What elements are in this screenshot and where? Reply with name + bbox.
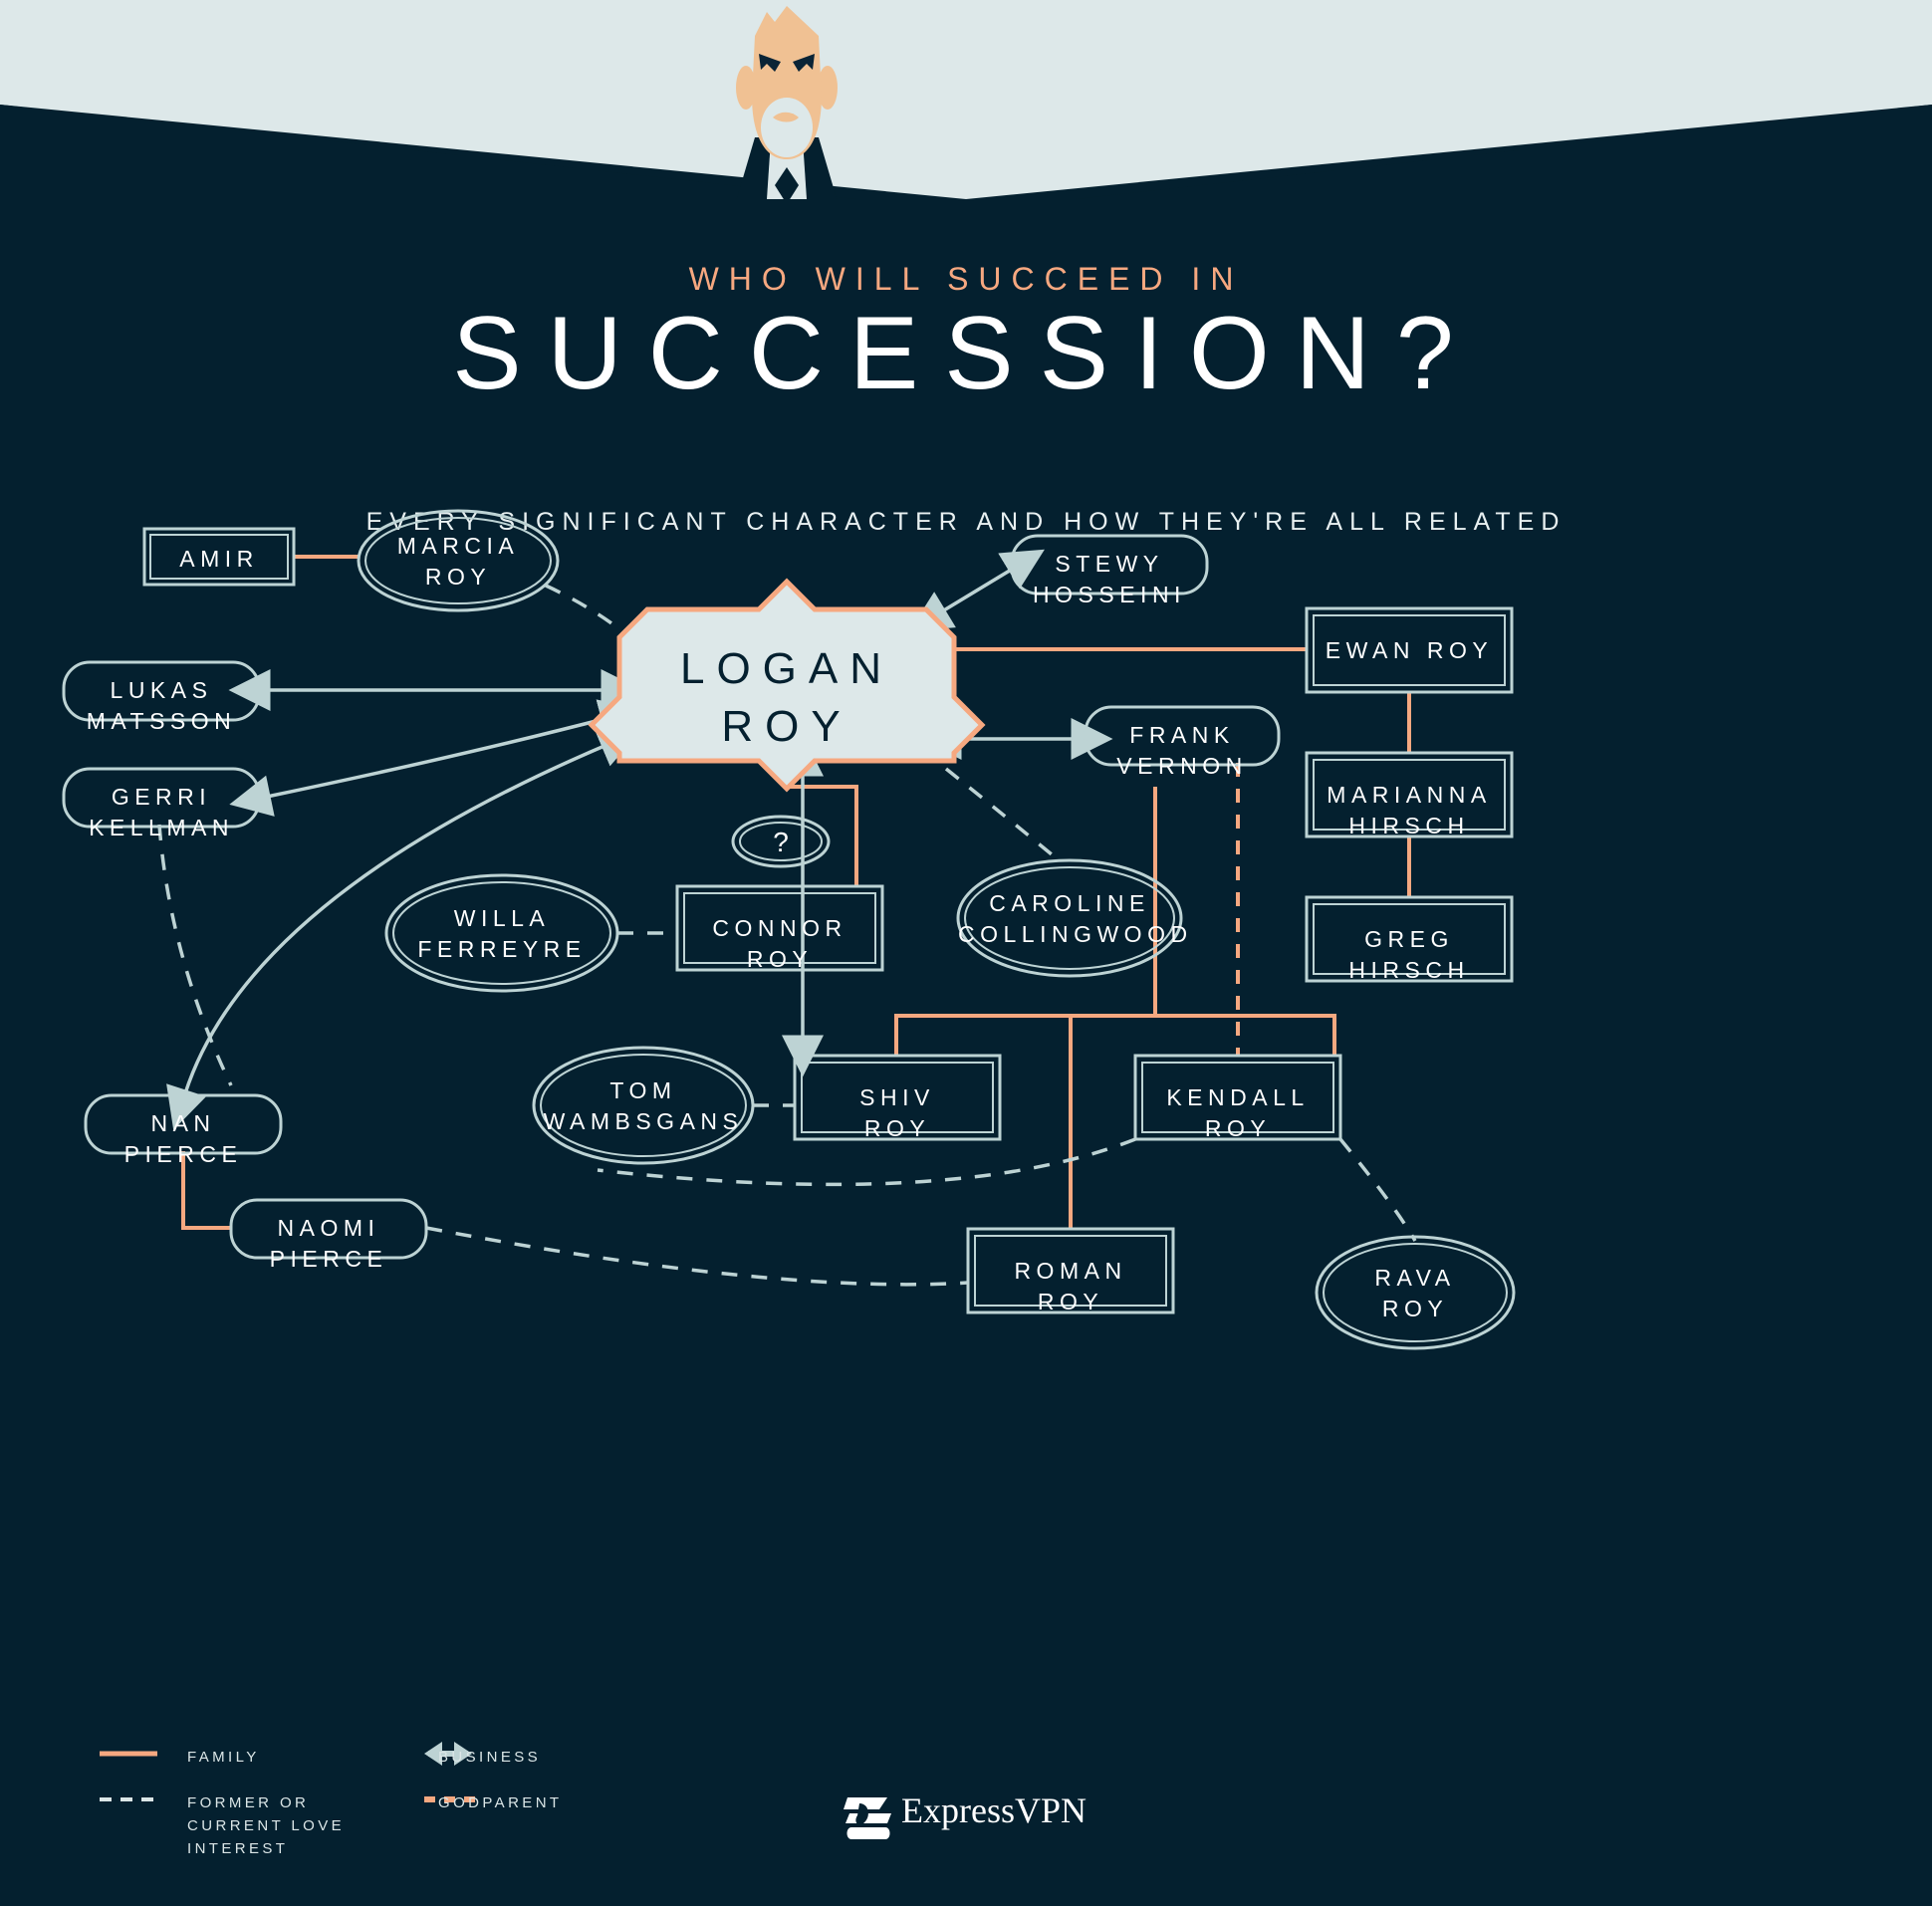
node-stewy-hosseini[interactable] [1012,536,1207,594]
node-logan-roy[interactable] [592,582,982,789]
node-greg-hirsch[interactable] [1307,897,1512,981]
node-amir[interactable] [144,529,294,585]
node-roman-roy[interactable] [968,1229,1173,1312]
node-lukas-matsson[interactable] [64,662,259,720]
legend: FAMILY BUSINESS FORMER OR CURRENT LOVE I… [100,1738,717,1887]
legend-label-family: FAMILY [187,1746,260,1769]
node-rava-roy[interactable] [1317,1237,1514,1348]
node-shiv-roy[interactable] [795,1056,1000,1139]
edge-logan-shiv [896,787,1155,1056]
node-unknown[interactable] [733,817,829,866]
edge-logan-kendall [1155,1016,1334,1056]
node-kendall-roy[interactable] [1135,1056,1340,1139]
brand-name: ExpressVPN [901,1789,1087,1831]
edge-gerri-nan-love-upper [159,825,231,1085]
infographic-page: WHO WILL SUCCEED IN SUCCESSION? EVERY SI… [0,0,1932,1906]
edge-gerri-logan-business [267,717,611,797]
node-tom-wambsgans[interactable] [534,1048,753,1163]
node-ewan-roy[interactable] [1307,608,1512,692]
relationship-diagram [0,0,1932,1906]
node-connor-roy[interactable] [677,886,882,970]
node-nan-pierce[interactable] [86,1095,281,1153]
brand-logo: ExpressVPN [842,1787,1110,1847]
legend-label-love: FORMER OR CURRENT LOVE INTEREST [187,1791,396,1860]
node-naomi-pierce[interactable] [231,1200,426,1258]
legend-label-business: BUSINESS [438,1746,541,1769]
edge-logan-caroline-love [946,769,1058,859]
node-marcia-roy[interactable] [359,511,558,610]
node-marianna-hirsch[interactable] [1307,753,1512,836]
node-gerri-kellman[interactable] [64,769,259,827]
expressvpn-logo-mark [842,1793,895,1845]
node-willa-ferreyre[interactable] [386,875,617,991]
node-shapes [64,511,1514,1348]
node-frank-vernon[interactable] [1086,707,1279,765]
edge-naomi-roman-love [426,1228,968,1285]
edge-logan-stewy-business [942,566,1018,611]
edge-nan-naomi [183,1151,231,1228]
node-caroline-collingwood[interactable] [958,860,1181,976]
legend-label-godparent: GODPARENT [438,1791,563,1814]
edge-kendall-rava-love [1340,1139,1415,1241]
